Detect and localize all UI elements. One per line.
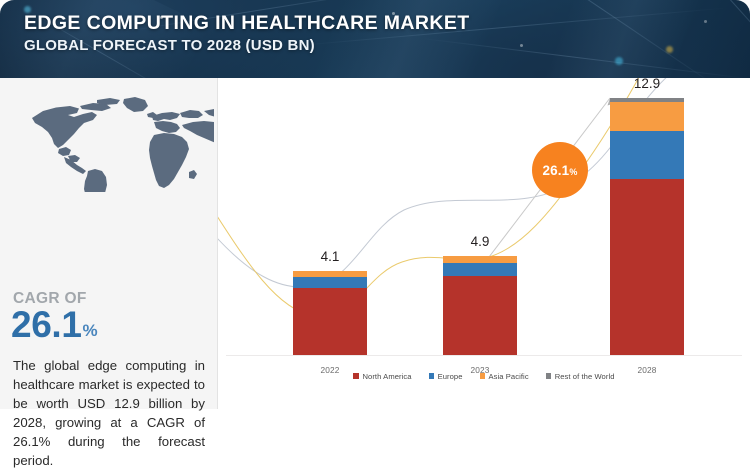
cagr-callout-unit: %	[569, 167, 577, 177]
bar-total-2023: 4.9	[443, 234, 517, 249]
cagr-value-group: 26.1 %	[11, 306, 98, 343]
bar-total-2022: 4.1	[293, 249, 367, 264]
legend-item-north-america[interactable]: North America	[353, 372, 411, 381]
cagr-callout-text: 26.1%	[543, 163, 578, 178]
legend-label: North America	[362, 372, 411, 381]
bar-segment-asia-pacific[interactable]	[610, 102, 684, 131]
bar-total-2028: 12.9	[610, 78, 684, 91]
market-description: The global edge computing in healthcare …	[13, 356, 205, 470]
cagr-callout-bubble[interactable]: 26.1%	[532, 142, 588, 198]
header-star-accent	[704, 20, 707, 23]
legend-swatch-icon	[353, 373, 359, 379]
bar-segment-north-america[interactable]	[443, 276, 517, 355]
header-text-block: EDGE COMPUTING IN HEALTHCARE MARKET GLOB…	[24, 13, 470, 54]
legend-swatch-icon	[546, 373, 552, 379]
bar-2022[interactable]: 4.1	[293, 271, 367, 355]
bar-segment-north-america[interactable]	[610, 179, 684, 355]
bar-segment-north-america[interactable]	[293, 288, 367, 355]
world-map-icon	[4, 92, 214, 192]
page-title: EDGE COMPUTING IN HEALTHCARE MARKET	[24, 13, 470, 33]
chart-legend: North America Europe Asia Pacific Rest o…	[218, 368, 750, 384]
bar-segment-asia-pacific[interactable]	[443, 256, 517, 263]
legend-swatch-icon	[480, 373, 486, 379]
header-star-accent	[615, 57, 623, 65]
chart-panel: 4.1 2022 4.9 2023 12.9 20	[218, 78, 750, 409]
bar-segment-europe[interactable]	[293, 277, 367, 288]
legend-swatch-icon	[429, 373, 435, 379]
bar-2028[interactable]: 12.9	[610, 98, 684, 355]
header-banner: EDGE COMPUTING IN HEALTHCARE MARKET GLOB…	[0, 0, 750, 78]
sidebar-panel: CAGR OF 26.1 % The global edge computing…	[0, 78, 218, 409]
cagr-callout-value: 26.1	[543, 163, 570, 178]
legend-item-rest-of-the-world[interactable]: Rest of the World	[546, 372, 615, 381]
bar-segment-europe[interactable]	[610, 131, 684, 179]
legend-label: Asia Pacific	[489, 372, 529, 381]
legend-item-europe[interactable]: Europe	[429, 372, 463, 381]
header-star-accent	[520, 44, 523, 47]
legend-label: Rest of the World	[555, 372, 615, 381]
plot-area: 4.1 2022 4.9 2023 12.9 20	[218, 78, 750, 409]
cagr-value: 26.1	[11, 306, 82, 343]
bar-segment-europe[interactable]	[443, 263, 517, 276]
page-subtitle: GLOBAL FORECAST TO 2028 (USD BN)	[24, 38, 470, 54]
legend-item-asia-pacific[interactable]: Asia Pacific	[480, 372, 529, 381]
header-star-accent	[666, 46, 673, 53]
cagr-percent: %	[82, 322, 98, 343]
infographic-canvas: EDGE COMPUTING IN HEALTHCARE MARKET GLOB…	[0, 0, 750, 409]
bar-2023[interactable]: 4.9	[443, 256, 517, 355]
legend-label: Europe	[438, 372, 463, 381]
